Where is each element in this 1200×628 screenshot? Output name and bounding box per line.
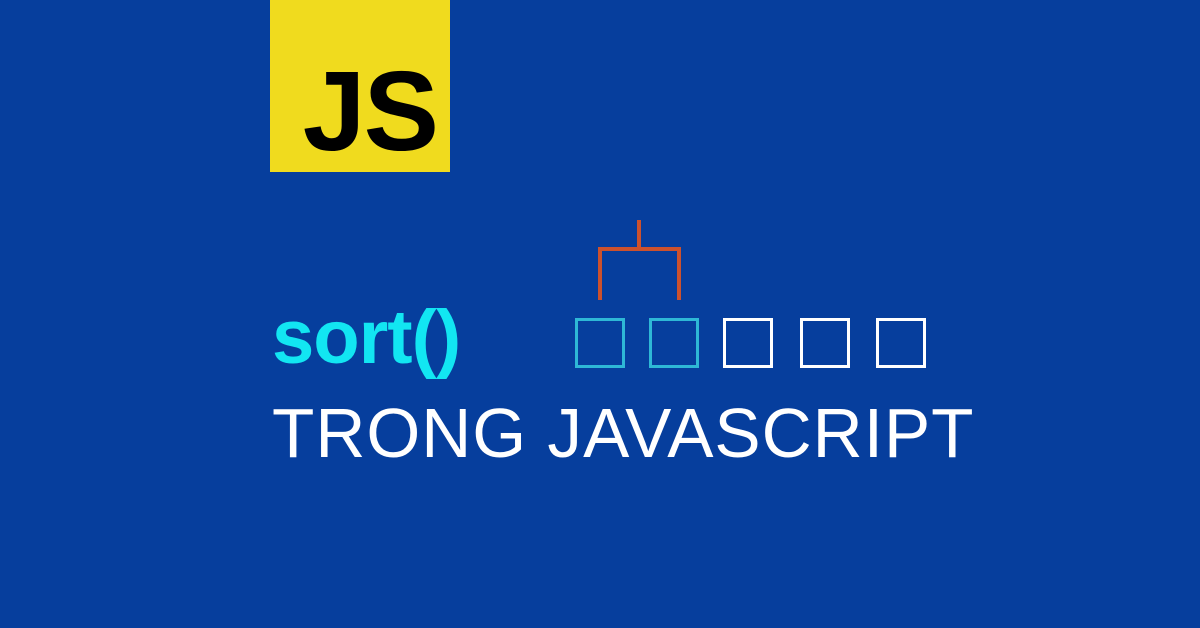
sort-tree-diagram [560,210,950,380]
tree-horizontal-connector [598,247,681,251]
array-cell [575,318,625,368]
tree-stem-line [637,220,641,249]
page-title: TRONG JAVASCRIPT [272,398,974,468]
array-cell [723,318,773,368]
javascript-logo: JS [270,0,450,172]
array-cell [800,318,850,368]
javascript-logo-text: JS [303,55,437,168]
tree-branch-right [677,247,681,300]
tree-branch-left [598,247,602,300]
method-name-label: sort() [272,300,460,376]
array-cell [876,318,926,368]
array-cell [649,318,699,368]
banner-canvas: JS sort() TRONG JAVASCRIPT [0,0,1200,628]
